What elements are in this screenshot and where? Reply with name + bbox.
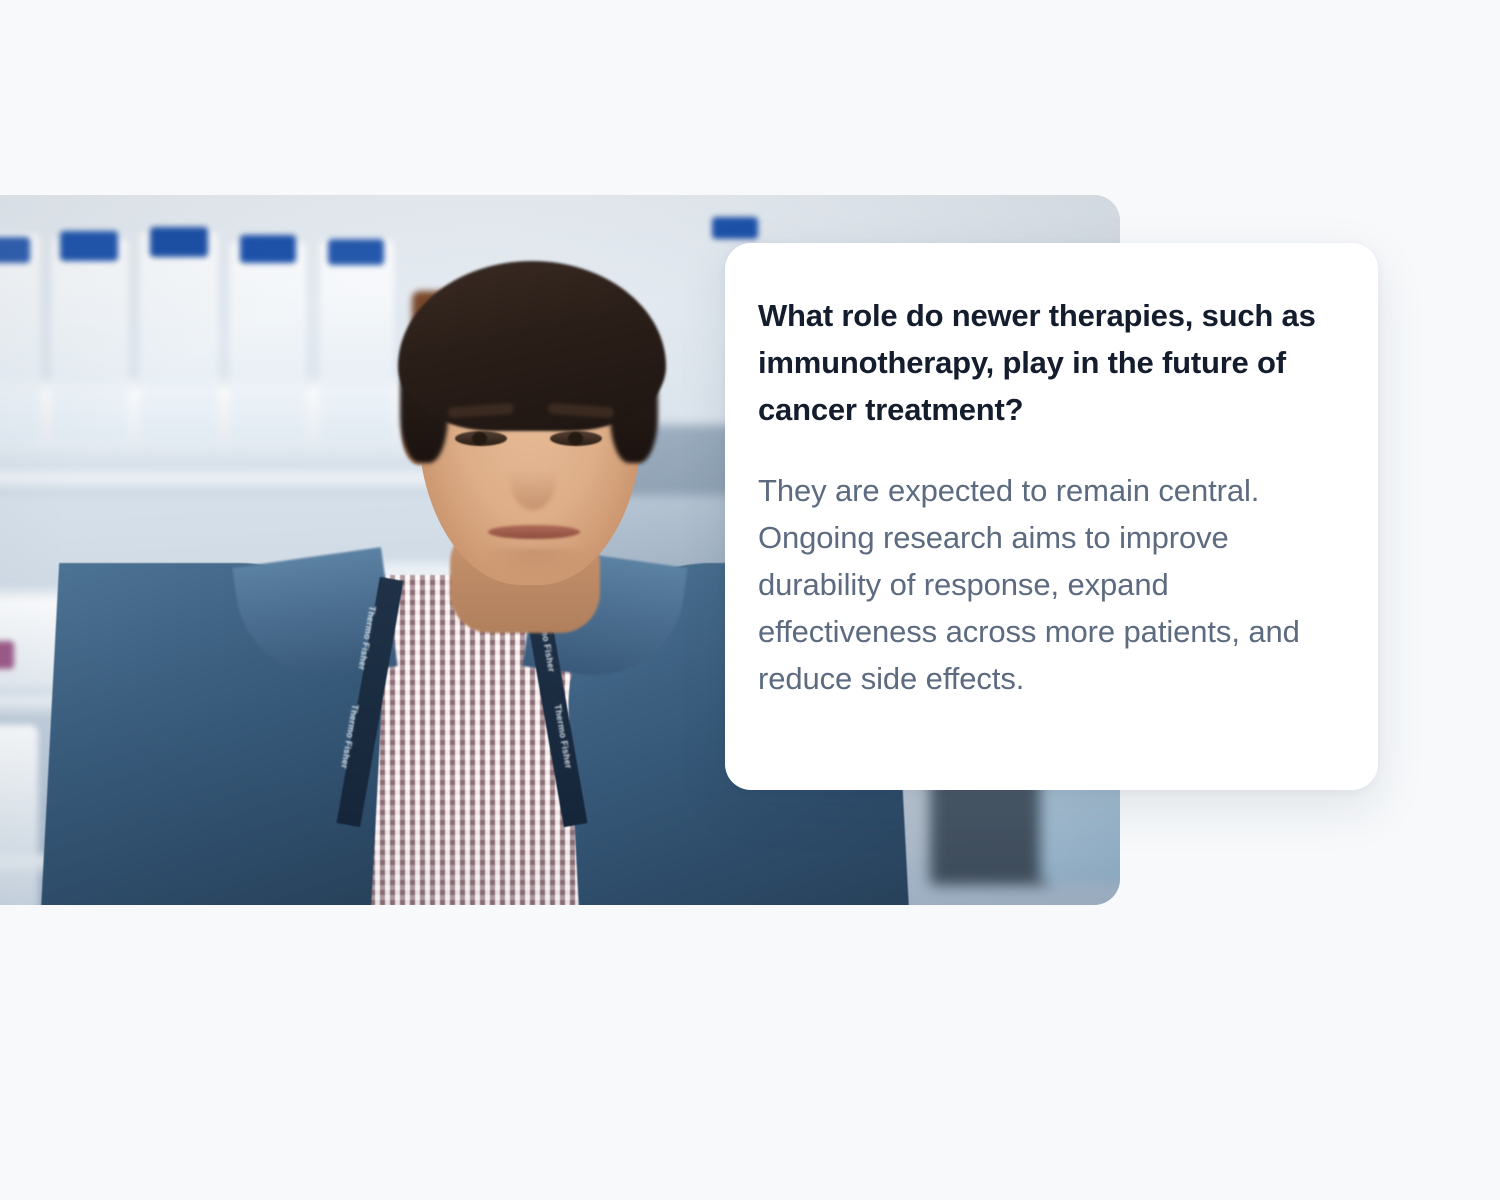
qa-question: What role do newer therapies, such as im…: [758, 292, 1326, 433]
reagent-bottle: [0, 233, 40, 443]
page-root: Thermo Fisher Thermo Fisher Thermo Fishe…: [0, 0, 1500, 1200]
qa-answer: They are expected to remain central. Ong…: [758, 467, 1326, 702]
bottle-cap-blue: [60, 231, 118, 261]
pupil-left: [472, 432, 487, 445]
reagent-bottle: [52, 237, 128, 443]
qa-card: What role do newer therapies, such as im…: [725, 243, 1378, 790]
pupil-right: [568, 432, 583, 445]
mouth: [488, 525, 580, 539]
nose: [510, 448, 556, 510]
hair: [398, 261, 666, 431]
reagent-bottle: [0, 725, 38, 905]
bottle-cap-blue: [0, 237, 30, 263]
chin: [480, 549, 590, 583]
bottle-cap-purple: [0, 641, 14, 669]
